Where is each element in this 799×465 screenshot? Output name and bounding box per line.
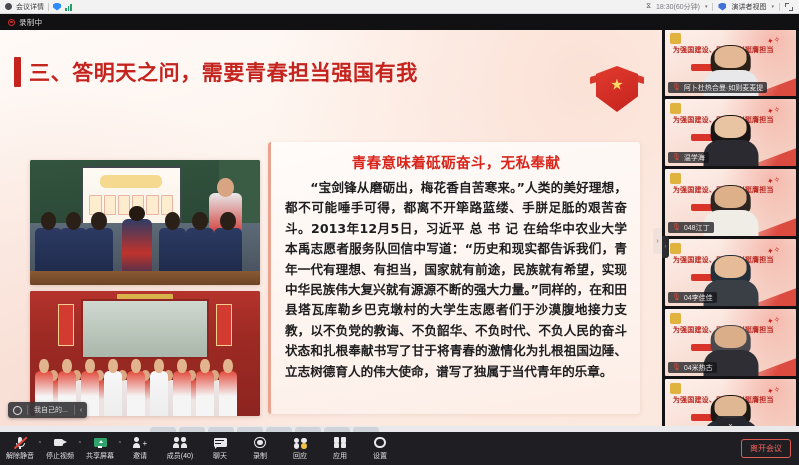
view-mode-label[interactable]: 演讲者视图 — [731, 2, 766, 12]
record-indicator-icon — [8, 19, 15, 26]
record-icon — [253, 436, 267, 449]
background-emblem-icon — [670, 243, 681, 254]
mic-muted-icon: 🎙 — [672, 294, 681, 301]
annotation-mode-label[interactable]: 我自己的... — [28, 405, 74, 415]
view-mode-icon[interactable] — [718, 3, 726, 11]
shared-screen-stage[interactable]: 三、答明天之问，需要青春担当强国有我 ★ — [0, 30, 662, 432]
toolbar-share-screen-button[interactable]: 共享屏幕^ — [80, 432, 120, 465]
toolbar-item-label: 设置 — [373, 451, 387, 461]
slide-card-body: “宝剑锋从磨砺出，梅花香自苦寒来。”人类的美好理想，都不可能唾手可得，都离不开筚… — [285, 178, 627, 382]
participants-icon — [173, 436, 187, 449]
cursor-icon[interactable] — [13, 406, 22, 415]
background-emblem-icon — [670, 383, 681, 394]
toolbar-button-group: 解除静音^停止视频^共享屏幕^+邀请成员(40)聊天录制回应应用设置 — [0, 432, 400, 465]
birds-icon: ✦✧ — [766, 34, 781, 46]
toolbar-item-label: 邀请 — [133, 451, 147, 461]
participant-name-chip: 🎙04李佳佳 — [668, 292, 717, 303]
title-accent-bar — [14, 57, 21, 87]
microphone-muted-icon — [13, 436, 27, 449]
top-bar-divider-2 — [712, 3, 713, 11]
annotation-toolbar[interactable]: 我自己的... ‹ — [8, 402, 87, 418]
toolbar-camera-button[interactable]: 停止视频^ — [40, 432, 80, 465]
participant-name-chip: 🎙048江丁 — [668, 222, 714, 233]
toolbar-invite-user-button[interactable]: +邀请 — [120, 432, 160, 465]
rail-collapse-handle[interactable]: ‹ — [662, 236, 669, 258]
participant-name-chip: 🎙阿卜杜热合曼·如则麦麦提 — [668, 82, 767, 93]
gear-icon — [373, 436, 387, 449]
volunteer-group-photo — [30, 291, 260, 416]
slide-card-title: 青春意味着砥砺奋斗，无私奉献 — [285, 152, 627, 173]
view-chevron-down-icon[interactable]: ▾ — [771, 4, 774, 10]
toolbar-item-label: 聊天 — [213, 451, 227, 461]
participant-name: 048江丁 — [684, 223, 710, 233]
toolbar-item-label: 回应 — [293, 451, 307, 461]
expand-icon[interactable] — [785, 3, 793, 11]
mic-muted-icon: 🎙 — [672, 364, 681, 371]
toolbar-participants-button[interactable]: 成员(40) — [160, 432, 200, 465]
toolbar-apps-grid-button[interactable]: 应用 — [320, 432, 360, 465]
toolbar-item-label: 录制 — [253, 451, 267, 461]
participant-tiles: 为强国建设、民族复兴挺膺担当✦✧🎙阿卜杜热合曼·如则麦麦提为强国建设、民族复兴挺… — [662, 29, 799, 432]
camera-icon — [53, 436, 67, 449]
slide-title-group: 三、答明天之问，需要青春担当强国有我 — [14, 57, 418, 87]
mic-muted-icon: 🎙 — [672, 224, 681, 231]
presentation-slide: 三、答明天之问，需要青春担当强国有我 ★ — [0, 30, 662, 432]
toolbar-reactions-button[interactable]: 回应 — [280, 432, 320, 465]
top-bar-left-group: 会议详情 — [0, 2, 72, 12]
birds-icon: ✦✧ — [766, 384, 781, 396]
participant-tile[interactable]: 为强国建设、民族复兴挺膺担当✦✧🎙温学海 — [665, 99, 796, 166]
recording-status-bar: 录制中 — [0, 14, 799, 30]
toolbar-item-label: 应用 — [333, 451, 347, 461]
apps-grid-icon — [333, 436, 347, 449]
toolbar-item-label: 共享屏幕 — [86, 451, 114, 461]
participant-name-chip: 🎙温学海 — [668, 152, 709, 163]
background-emblem-icon — [670, 103, 681, 114]
duration-chevron-down-icon[interactable]: ▾ — [705, 4, 708, 10]
participant-name: 04米热古 — [684, 363, 713, 373]
group-photo-couplet-left — [58, 304, 74, 347]
classroom-desk-row — [30, 271, 260, 285]
hourglass-icon: ⧖ — [646, 3, 651, 11]
participant-name: 阿卜杜热合曼·如则麦麦提 — [684, 83, 763, 93]
background-emblem-icon — [670, 173, 681, 184]
mic-muted-icon: 🎙 — [672, 84, 681, 91]
participant-tile[interactable]: 为强国建设、民族复兴挺膺担当✦✧🎙04李佳佳 — [665, 239, 796, 306]
chat-bubble-icon — [213, 436, 227, 449]
top-bar-divider-3 — [779, 3, 780, 11]
birds-icon: ✦✧ — [766, 314, 781, 326]
participant-tile[interactable]: 为强国建设、民族复兴挺膺担当✦✧🎙阿卜杜热合曼·如则麦麦提 — [665, 29, 796, 96]
slide-title: 三、答明天之问，需要青春担当强国有我 — [29, 57, 418, 87]
chevron-left-icon[interactable]: ‹ — [75, 407, 87, 414]
mic-muted-icon: 🎙 — [672, 154, 681, 161]
classroom-photo — [30, 160, 260, 285]
recording-status-label: 录制中 — [19, 17, 42, 28]
reactions-icon — [293, 436, 307, 449]
group-photo-couplet-right — [216, 304, 232, 347]
toolbar-item-label: 成员(40) — [167, 451, 193, 461]
meeting-info-icon[interactable] — [5, 3, 12, 10]
top-bar-right-group: ⧖ 18:30(60分钟) ▾ 演讲者视图 ▾ — [646, 2, 799, 12]
participant-figure — [703, 116, 758, 166]
birds-icon: ✦✧ — [766, 174, 781, 186]
top-bar-divider — [48, 3, 49, 11]
participant-name: 04李佳佳 — [684, 293, 713, 303]
participant-tile[interactable]: 为强国建设、民族复兴挺膺担当✦✧🎙048江丁 — [665, 169, 796, 236]
shield-icon[interactable] — [53, 3, 61, 11]
toolbar-microphone-muted-button[interactable]: 解除静音^ — [0, 432, 40, 465]
toolbar-chat-bubble-button[interactable]: 聊天 — [200, 432, 240, 465]
birds-icon: ✦✧ — [766, 104, 781, 116]
participant-name: 温学海 — [684, 153, 705, 163]
invite-user-icon: + — [133, 436, 147, 449]
meeting-info-label[interactable]: 会议详情 — [16, 2, 44, 12]
app-top-bar: 会议详情 ⧖ 18:30(60分钟) ▾ 演讲者视图 ▾ — [0, 0, 799, 14]
meeting-window: 会议详情 ⧖ 18:30(60分钟) ▾ 演讲者视图 ▾ 录制中 三、答明天之问… — [0, 0, 799, 465]
background-emblem-icon — [670, 33, 681, 44]
meeting-duration-label: 18:30(60分钟) — [656, 2, 700, 12]
toolbar-gear-button[interactable]: 设置 — [360, 432, 400, 465]
slide-text-card: 青春意味着砥砺奋斗，无私奉献 “宝剑锋从磨砺出，梅花香自苦寒来。”人类的美好理想… — [268, 142, 640, 414]
background-emblem-icon — [670, 313, 681, 324]
signal-bars-icon[interactable] — [65, 3, 72, 11]
slide-photo-column — [30, 160, 260, 416]
birds-icon: ✦✧ — [766, 244, 781, 256]
toolbar-record-button[interactable]: 录制 — [240, 432, 280, 465]
participant-video-rail: 🎙 正在讲话: 那柔 ∿∿ 为强国建设、民族复兴挺膺担当✦✧🎙阿卜杜热合曼·如则… — [662, 14, 799, 432]
emblem-star-icon: ★ — [610, 78, 623, 93]
meeting-toolbar: 解除静音^停止视频^共享屏幕^+邀请成员(40)聊天录制回应应用设置 离开会议 — [0, 432, 799, 465]
participant-tile[interactable]: 为强国建设、民族复兴挺膺担当✦✧🎙04米热古 — [665, 309, 796, 376]
share-screen-icon — [93, 436, 107, 449]
participant-name-chip: 🎙04米热古 — [668, 362, 717, 373]
toolbar-item-label: 解除静音 — [6, 451, 34, 461]
leave-meeting-button[interactable]: 离开会议 — [741, 439, 791, 458]
toolbar-item-label: 停止视频 — [46, 451, 74, 461]
party-emblem-icon: ★ — [596, 66, 638, 112]
stage-collapse-handle[interactable]: › — [653, 228, 662, 254]
